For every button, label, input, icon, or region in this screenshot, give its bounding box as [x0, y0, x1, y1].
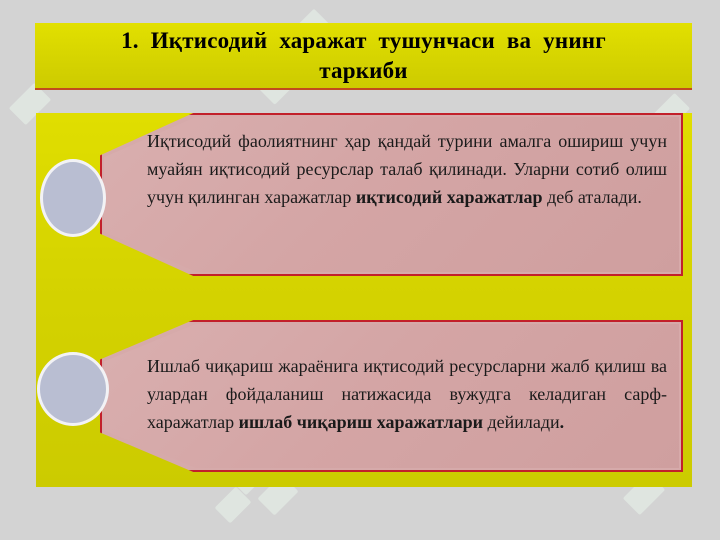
callout-economic-costs-text: Иқтисодий фаолиятнинг ҳар қандай турини … [147, 127, 667, 211]
callout-production-costs-text: Ишлаб чиқариш жараёнига иқтисодий ресурс… [147, 352, 667, 436]
page-title-line-1: 1. Иқтисодий харажат тушунчаси ва унинг [121, 26, 606, 56]
watermark-blob [215, 487, 252, 524]
oval-bullet-icon [40, 159, 106, 237]
page-title-line-2: таркиби [319, 56, 408, 86]
slide-title-banner: 1. Иқтисодий харажат тушунчаси ва унинг … [35, 23, 692, 90]
slide-canvas: 1. Иқтисодий харажат тушунчаси ва унинг … [0, 0, 720, 540]
callout-economic-costs: Иқтисодий фаолиятнинг ҳар қандай турини … [100, 113, 683, 276]
oval-bullet-icon [37, 352, 109, 426]
callout-production-costs: Ишлаб чиқариш жараёнига иқтисодий ресурс… [100, 320, 683, 472]
